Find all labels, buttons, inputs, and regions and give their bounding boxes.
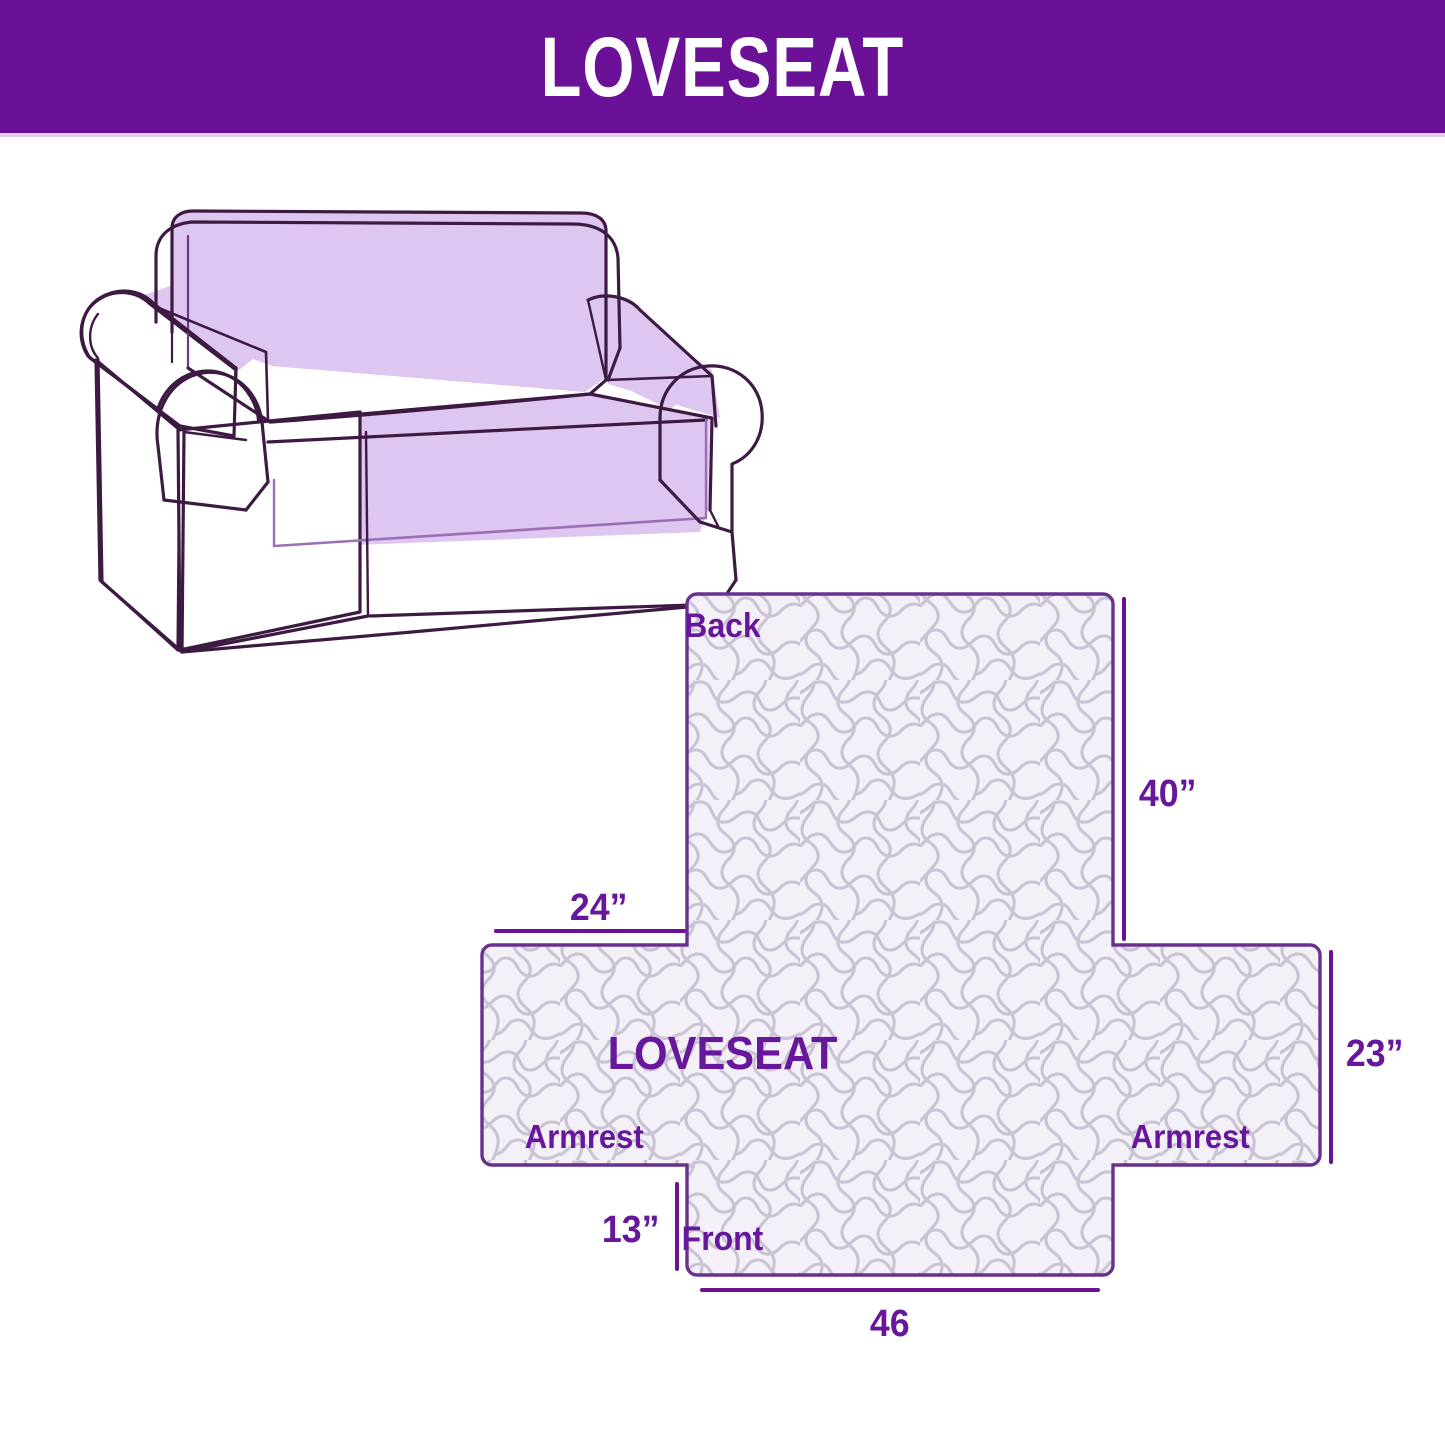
page-title: LOVESEAT <box>541 25 905 109</box>
dimension-label-back-offset: 24” <box>570 887 628 930</box>
panel-label-back: Back <box>43 607 1401 646</box>
dimension-label-front-height: 13” <box>602 1209 660 1252</box>
dimension-line-front-width <box>700 1288 1100 1292</box>
dimension-line-back-height <box>1122 597 1126 941</box>
dimension-line-front-height <box>675 1182 679 1271</box>
dimension-label-front-width: 46 <box>54 1303 1445 1346</box>
dimension-label-back-height: 40” <box>1139 773 1197 816</box>
poster-canvas: LOVESEAT <box>0 0 1445 1445</box>
panel-label-armrest-left: Armrest <box>525 1118 644 1156</box>
cover-outline <box>482 594 1320 1275</box>
panel-label-front: Front <box>43 1220 1401 1259</box>
pattern-center-label: LOVESEAT <box>43 1026 1401 1080</box>
dimension-line-armrest-depth <box>1329 950 1333 1164</box>
pattern-diagram <box>440 560 1445 1400</box>
header-banner: LOVESEAT <box>0 0 1445 133</box>
dimension-label-armrest-depth: 23” <box>1346 1033 1404 1076</box>
panel-label-armrest-right: Armrest <box>1131 1118 1250 1156</box>
banner-bottom-edge <box>0 133 1445 137</box>
pattern-svg <box>440 560 1445 1400</box>
